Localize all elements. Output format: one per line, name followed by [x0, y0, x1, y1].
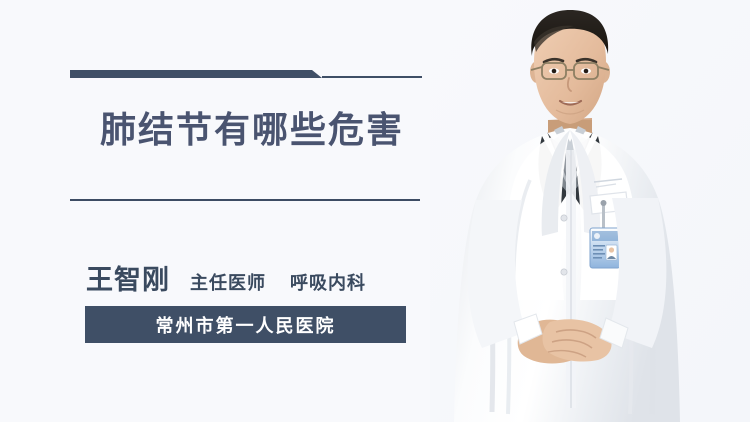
page-title: 肺结节有哪些危害 — [100, 108, 404, 151]
horizontal-divider-icon — [70, 199, 420, 201]
hospital-badge: 常州市第一人民医院 — [85, 306, 406, 343]
tapered-rule-icon — [70, 66, 422, 82]
doctor-portrait-icon — [430, 0, 750, 422]
video-cover-card: 肺结节有哪些危害 王智刚 主任医师 呼吸内科 常州市第一人民医院 — [0, 0, 750, 422]
hospital-name: 常州市第一人民医院 — [156, 312, 336, 338]
doctor-professional-title: 主任医师 — [190, 269, 266, 295]
doctor-identity: 王智刚 主任医师 呼吸内科 — [86, 258, 366, 297]
doctor-name: 王智刚 — [86, 258, 170, 297]
doctor-department: 呼吸内科 — [290, 269, 366, 295]
